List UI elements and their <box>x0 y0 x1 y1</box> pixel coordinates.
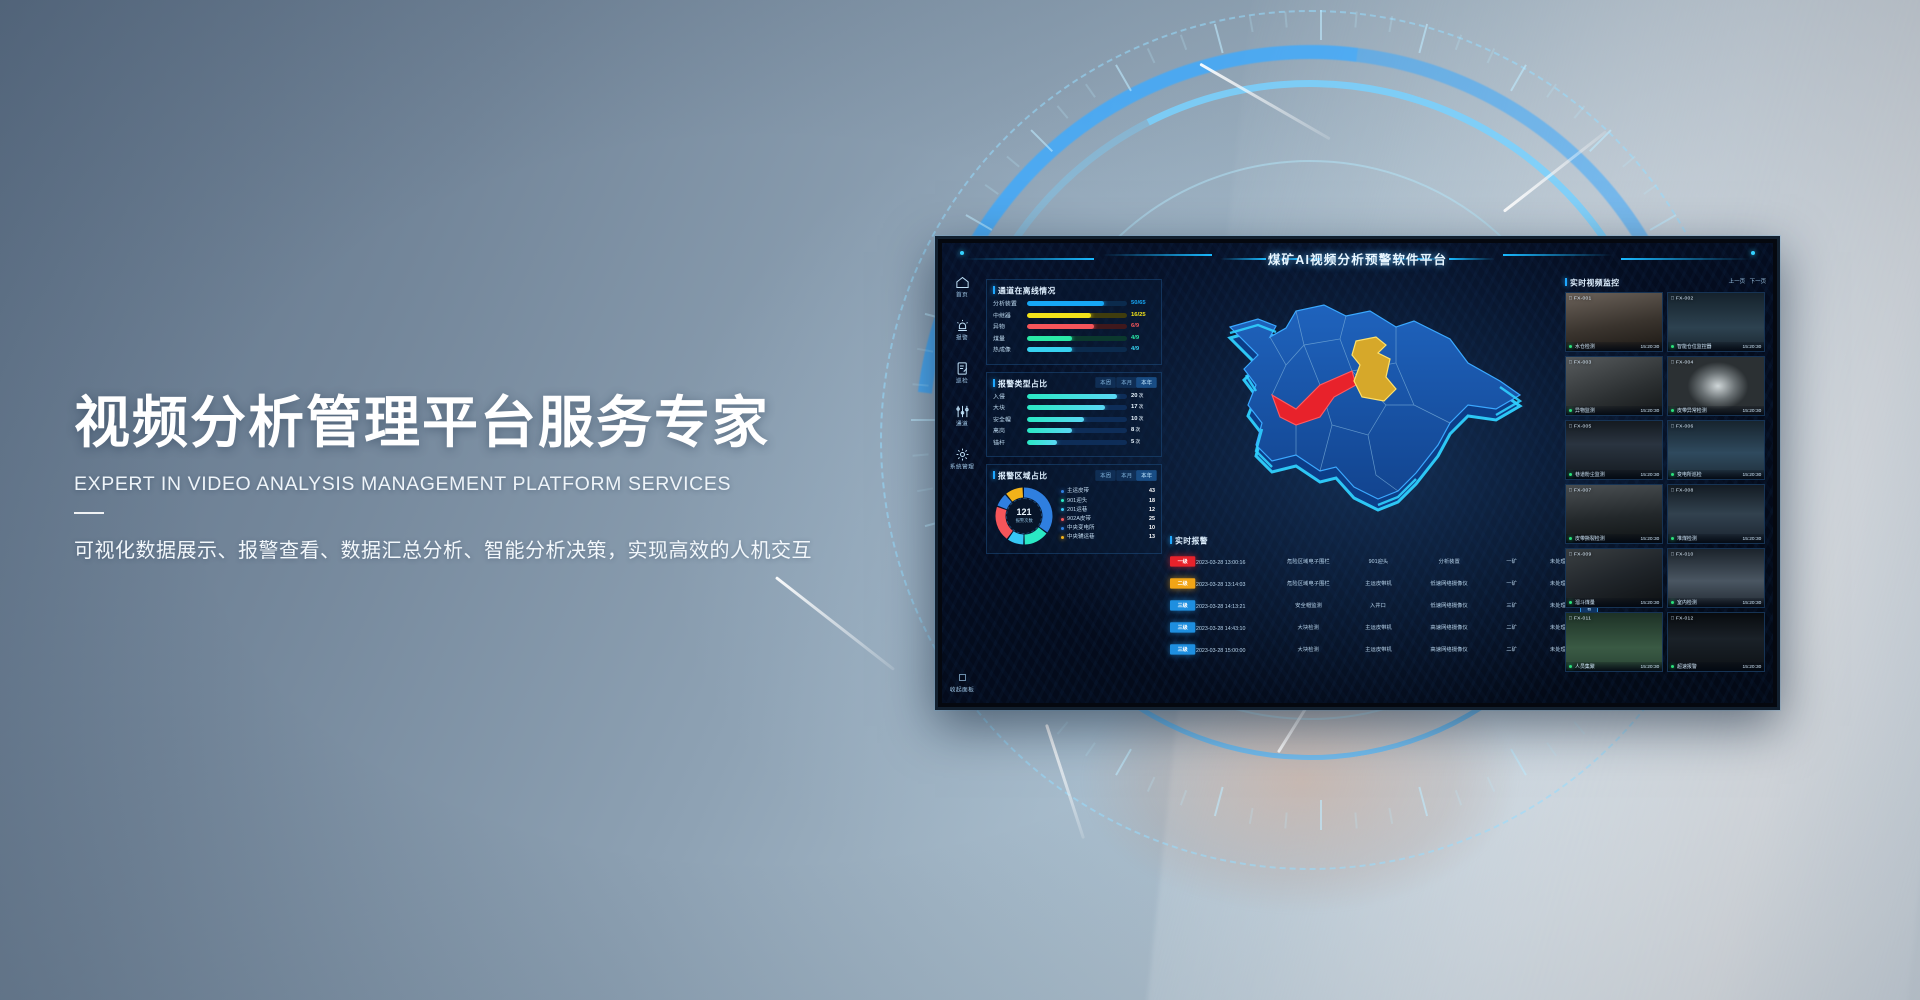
alarm-type-label: 离岗 <box>993 426 1030 435</box>
video-timestamp: 15:20:30 <box>1640 408 1659 414</box>
panel-tab-本周[interactable]: 本周 <box>1096 470 1117 481</box>
alarm-mine-cell: 一矿 <box>1488 581 1536 587</box>
dashboard-screen: 煤矿AI视频分析预警软件平台 首页 报警 巡检 通道 系统管理 <box>942 243 1773 703</box>
channel-bar-row: 分析装置50/65 <box>993 300 1155 307</box>
donut-legend-row: 901迎头18 <box>1061 498 1155 504</box>
video-online-dot <box>1671 345 1674 348</box>
legend-color-dot <box>1061 518 1064 521</box>
alarm-type-row: 安全帽10 次 <box>993 416 1155 423</box>
video-online-dot <box>1671 665 1674 668</box>
video-camera-id: □ FX-002 <box>1671 295 1693 301</box>
video-timestamp: 15:20:30 <box>1742 408 1761 414</box>
video-camera-id: □ FX-007 <box>1569 487 1591 493</box>
video-caption-bar: 异物监测15:20:30 <box>1566 406 1662 415</box>
channel-bar-fill <box>1027 336 1072 341</box>
hero-divider <box>74 512 104 514</box>
channel-bar-track <box>1027 347 1127 352</box>
video-caption-bar: 皮带撕裂检测15:20:30 <box>1566 534 1662 543</box>
video-timestamp: 15:20:30 <box>1742 664 1761 670</box>
alarm-area-panel: 报警区域占比 本周本月本年 121 报警次数 主运皮带43901迎头18201运… <box>986 464 1162 554</box>
alarm-level-cell: 三级 <box>1170 623 1196 632</box>
area-panel-header: 报警区域占比 本周本月本年 <box>993 470 1155 480</box>
alarm-time-cell: 2023-03-28 13:00:16 <box>1196 559 1282 565</box>
channel-panel-header: 通道在离线情况 <box>993 285 1155 295</box>
sidebar-label-alarm: 报警 <box>942 334 987 342</box>
donut-segment-5[interactable] <box>1009 493 1022 498</box>
channel-bar-fill <box>1027 324 1094 329</box>
video-cell[interactable]: □ FX-012超速报警15:20:30 <box>1667 612 1765 672</box>
legend-color-dot <box>1061 490 1064 493</box>
alarm-type-unit: 次 <box>1134 427 1140 432</box>
alarm-table-row[interactable]: 三级2023-03-28 15:00:00大块检测主运皮带机高速网络摄像仪二矿未… <box>1170 639 1559 661</box>
channel-bar-fill <box>1027 301 1104 306</box>
video-cell[interactable]: □ FX-011人员集聚15:20:30 <box>1565 612 1663 672</box>
collapse-icon <box>958 673 967 682</box>
video-online-dot <box>1671 409 1674 412</box>
channel-bar-value: 4/9 <box>1131 335 1160 341</box>
alarm-type-label: 大块 <box>993 403 1030 412</box>
channel-bar-fill <box>1027 313 1091 318</box>
video-timestamp: 15:20:30 <box>1742 344 1761 350</box>
alarm-level-cell: 一级 <box>1170 557 1196 566</box>
channel-bar-track <box>1027 336 1127 341</box>
sidebar-collapse-button[interactable]: 收起面板 <box>942 669 982 693</box>
video-caption-bar: 溜斗煤量15:20:30 <box>1566 598 1662 607</box>
video-timestamp: 15:20:30 <box>1640 344 1659 350</box>
sidebar-item-settings[interactable]: 系统管理 <box>942 447 982 470</box>
sidebar-label-home: 首页 <box>942 291 987 299</box>
panel-accent-bar <box>1170 536 1172 544</box>
alarm-type-value: 5 次 <box>1131 439 1160 445</box>
channel-bar-label: 异物 <box>993 322 1030 331</box>
alarm-mine-cell: 二矿 <box>1488 647 1536 653</box>
video-caption-bar: 人员集聚15:20:30 <box>1566 662 1662 671</box>
sidebar-item-alarm[interactable]: 报警 <box>942 318 982 341</box>
video-cell[interactable]: □ FX-007皮带撕裂检测15:20:30 <box>1565 484 1663 544</box>
dashboard-title: 煤矿AI视频分析预警软件平台 <box>942 249 1773 268</box>
alarm-type-track <box>1027 417 1127 422</box>
video-timestamp: 15:20:30 <box>1640 664 1659 670</box>
alarm-time-cell: 2023-03-28 15:00:00 <box>1196 647 1282 653</box>
video-timestamp: 15:20:30 <box>1742 600 1761 606</box>
donut-total-value: 121 <box>1016 508 1031 517</box>
alarm-type-track <box>1027 405 1127 410</box>
donut-legend-row: 中央辅运巷13 <box>1061 534 1155 540</box>
video-online-dot <box>1569 473 1572 476</box>
video-camera-id: □ FX-004 <box>1671 359 1693 365</box>
video-online-dot <box>1671 473 1674 476</box>
video-caption-bar: 变电所巡检15:20:30 <box>1668 470 1764 479</box>
alarm-type-value: 17 次 <box>1131 404 1160 410</box>
alarm-type-label: 安全帽 <box>993 415 1030 424</box>
sidebar-item-channel[interactable]: 通道 <box>942 404 982 427</box>
video-panel-header: 实时视频监控 上一页 下一页 <box>1565 277 1765 287</box>
video-next-page-button[interactable]: 下一页 <box>1750 278 1767 285</box>
alarm-type-row: 锚杆5 次 <box>993 439 1155 446</box>
alarm-type-fill <box>1027 405 1105 410</box>
alarm-type-row: 大块17 次 <box>993 404 1155 411</box>
channel-icon <box>955 404 970 419</box>
video-caption-bar: 室内检测15:20:30 <box>1668 598 1764 607</box>
channel-bar-value: 50/65 <box>1131 300 1160 306</box>
channel-bar-label: 煤量 <box>993 334 1030 343</box>
alarm-type-track <box>1027 440 1127 445</box>
alarm-type-value: 20 次 <box>1131 393 1160 399</box>
left-panel-column: 通道在离线情况 分析装置50/65中继器16/25异物6/9煤量4/9热成像4/… <box>986 279 1162 693</box>
alarm-mine-cell: 二矿 <box>1488 625 1536 631</box>
alarm-type-unit: 次 <box>1138 404 1144 409</box>
hero-description: 可视化数据展示、报警查看、数据汇总分析、智能分析决策，实现高效的人机交互 <box>74 534 954 563</box>
hero-text-block: 视频分析管理平台服务专家 EXPERT IN VIDEO ANALYSIS MA… <box>74 392 954 563</box>
dashboard-header: 煤矿AI视频分析预警软件平台 <box>942 243 1773 273</box>
alarm-time-cell: 2023-03-28 14:13:21 <box>1196 603 1282 609</box>
alarm-type-track <box>1027 428 1127 433</box>
video-cell[interactable]: □ FX-002智能仓位监控器15:20:30 <box>1667 292 1765 352</box>
sidebar-label-channel: 通道 <box>942 420 987 428</box>
channel-bar-label: 中继器 <box>993 311 1030 320</box>
alarm-type-bar-list: 入侵20 次大块17 次安全帽10 次离岗8 次锚杆5 次 <box>993 393 1155 446</box>
alarm-device-cell: 低速网络摄像仪 <box>1410 603 1488 609</box>
legend-label: 主运皮带 <box>1067 488 1153 495</box>
panel-accent-bar <box>993 286 995 294</box>
video-caption-bar: 水仓检测15:20:30 <box>1566 342 1662 351</box>
legend-label: 901迎头 <box>1067 497 1153 504</box>
video-prev-page-button[interactable]: 上一页 <box>1729 278 1746 285</box>
channel-panel-title: 通道在离线情况 <box>998 284 1056 296</box>
alarm-type-fill <box>1027 428 1072 433</box>
video-pagination: 上一页 下一页 <box>1730 279 1765 285</box>
video-camera-id: □ FX-008 <box>1671 487 1693 493</box>
video-camera-id: □ FX-006 <box>1671 423 1693 429</box>
legend-label: 902A皮带 <box>1067 515 1153 522</box>
alarm-table-row[interactable]: 二级2023-03-28 13:14:03危险区域电子围栏主运皮带机低速网络摄像… <box>1170 573 1559 595</box>
channel-bar-row: 热成像4/9 <box>993 346 1155 353</box>
video-cell[interactable]: □ FX-004皮带异常检测15:20:30 <box>1667 356 1765 416</box>
video-online-dot <box>1569 409 1572 412</box>
video-timestamp: 15:20:30 <box>1742 536 1761 542</box>
video-caption-bar: 智能仓位监控器15:20:30 <box>1668 342 1764 351</box>
video-camera-id: □ FX-012 <box>1671 615 1693 621</box>
home-icon <box>955 275 970 290</box>
alarm-device-cell: 低速网络摄像仪 <box>1410 581 1488 587</box>
legend-color-dot <box>1061 499 1064 502</box>
alarm-icon <box>955 318 970 333</box>
panel-accent-bar <box>1565 278 1567 286</box>
channel-bar-label: 分析装置 <box>993 299 1030 308</box>
area-panel-title: 报警区域占比 <box>998 469 1048 481</box>
legend-label: 中央辅运巷 <box>1067 534 1153 541</box>
sidebar-collapse-label: 收起面板 <box>942 686 987 694</box>
alarm-type-unit: 次 <box>1138 393 1144 398</box>
alarm-type-fill <box>1027 440 1057 445</box>
donut-legend-row: 902A皮带25 <box>1061 516 1155 522</box>
video-camera-id: □ FX-011 <box>1569 615 1591 621</box>
channel-bar-list: 分析装置50/65中继器16/25异物6/9煤量4/9热成像4/9 <box>993 300 1155 353</box>
video-timestamp: 15:20:30 <box>1640 472 1659 478</box>
video-cell[interactable]: □ FX-006变电所巡检15:20:30 <box>1667 420 1765 480</box>
channel-bar-track <box>1027 313 1127 318</box>
alarm-table-row[interactable]: 三级2023-03-28 14:13:21安全帽监测入井口低速网络摄像仪三矿未处… <box>1170 595 1559 617</box>
alarm-level-badge: 三级 <box>1170 623 1195 634</box>
video-caption-bar: 皮带异常检测15:20:30 <box>1668 406 1764 415</box>
alarm-panel-header: 实时报警 <box>1170 535 1559 545</box>
video-camera-id: □ FX-010 <box>1671 551 1693 557</box>
channel-bar-track <box>1027 301 1127 306</box>
donut-segment-2[interactable] <box>1011 535 1024 539</box>
type-panel-title: 报警类型占比 <box>998 377 1048 389</box>
panel-accent-bar <box>993 379 995 387</box>
alarm-type-label: 入侵 <box>993 392 1030 401</box>
province-map-svg <box>1200 285 1530 525</box>
alarm-type-panel: 报警类型占比 本周本月本年 入侵20 次大块17 次安全帽10 次离岗8 次锚杆… <box>986 372 1162 458</box>
video-cell[interactable]: □ FX-008堆煤检测15:20:30 <box>1667 484 1765 544</box>
donut-center: 121 报警次数 <box>1006 498 1042 534</box>
video-online-dot <box>1569 537 1572 540</box>
video-timestamp: 15:20:30 <box>1742 472 1761 478</box>
alarm-level-cell: 三级 <box>1170 601 1196 610</box>
panel-tab-本周[interactable]: 本周 <box>1096 377 1117 388</box>
alarm-device-cell: 高速网络摄像仪 <box>1410 647 1488 653</box>
video-online-dot <box>1569 345 1572 348</box>
alarm-area-cell: 主运皮带机 <box>1346 625 1410 631</box>
settings-gear-icon <box>955 447 970 462</box>
legend-label: 201运巷 <box>1067 506 1153 513</box>
video-cell[interactable]: □ FX-009溜斗煤量15:20:30 <box>1565 548 1663 608</box>
alarm-level-badge: 一级 <box>1170 557 1195 568</box>
alarm-time-cell: 2023-03-28 13:14:03 <box>1196 581 1282 587</box>
alarm-type-label: 锚杆 <box>993 438 1030 447</box>
alarm-device-cell: 分析装置 <box>1410 559 1488 565</box>
donut-legend: 主运皮带43901迎头18201运巷12902A皮带25中央变电所10中央辅运巷… <box>1055 488 1155 543</box>
donut-legend-row: 主运皮带43 <box>1061 488 1155 494</box>
type-panel-header: 报警类型占比 本周本月本年 <box>993 378 1155 388</box>
channel-bar-fill <box>1027 347 1072 352</box>
video-online-dot <box>1671 601 1674 604</box>
video-cell[interactable]: □ FX-003异物监测15:20:30 <box>1565 356 1663 416</box>
video-caption-bar: 巷道粉尘监测15:20:30 <box>1566 470 1662 479</box>
channel-bar-value: 16/25 <box>1131 312 1160 318</box>
video-timestamp: 15:20:30 <box>1640 600 1659 606</box>
channel-status-panel: 通道在离线情况 分析装置50/65中继器16/25异物6/9煤量4/9热成像4/… <box>986 279 1162 365</box>
video-camera-id: □ FX-001 <box>1569 295 1591 301</box>
panel-tab-本月[interactable]: 本月 <box>1116 470 1137 481</box>
alarm-area-cell: 901迎头 <box>1346 559 1410 565</box>
alarm-type-unit: 次 <box>1134 439 1140 444</box>
video-panel-title: 实时视频监控 <box>1570 276 1620 288</box>
panel-tab-本年[interactable]: 本年 <box>1136 470 1157 481</box>
channel-bar-row: 煤量4/9 <box>993 335 1155 342</box>
live-video-panel: 实时视频监控 上一页 下一页 □ FX-001水仓检测15:20:30□ FX-… <box>1565 277 1765 695</box>
legend-label: 中央变电所 <box>1067 525 1153 532</box>
donut-total-caption: 报警次数 <box>1015 519 1032 525</box>
video-caption-bar: 堆煤检测15:20:30 <box>1668 534 1764 543</box>
video-online-dot <box>1569 665 1572 668</box>
channel-bar-track <box>1027 324 1127 329</box>
hero-title: 视频分析管理平台服务专家 <box>74 392 954 455</box>
panel-tab-本月[interactable]: 本月 <box>1116 377 1137 388</box>
sidebar-item-inspection[interactable]: 巡检 <box>942 361 982 384</box>
alarm-area-cell: 主运皮带机 <box>1346 647 1410 653</box>
donut-legend-row: 201运巷12 <box>1061 507 1155 513</box>
sidebar-item-home[interactable]: 首页 <box>942 275 982 298</box>
alarm-type-row: 入侵20 次 <box>993 393 1155 400</box>
alarm-level-badge: 三级 <box>1170 601 1195 612</box>
video-camera-id: □ FX-003 <box>1569 359 1591 365</box>
video-camera-id: □ FX-005 <box>1569 423 1591 429</box>
legend-color-dot <box>1061 527 1064 530</box>
donut-legend-row: 中央变电所10 <box>1061 525 1155 531</box>
channel-bar-row: 异物6/9 <box>993 323 1155 330</box>
channel-bar-value: 4/9 <box>1131 346 1160 352</box>
alarm-panel-title: 实时报警 <box>1175 534 1208 546</box>
video-online-dot <box>1569 601 1572 604</box>
alarm-table-body: 一级2023-03-28 13:00:16危险区域电子围栏901迎头分析装置一矿… <box>1170 551 1559 661</box>
video-cell-grid: □ FX-001水仓检测15:20:30□ FX-002智能仓位监控器15:20… <box>1565 292 1765 672</box>
legend-color-dot <box>1061 536 1064 539</box>
area-panel-tabs[interactable]: 本周本月本年 <box>1097 471 1155 480</box>
alarm-type-value: 10 次 <box>1131 416 1160 422</box>
channel-bar-value: 6/9 <box>1131 323 1160 329</box>
alarm-area-cell: 主运皮带机 <box>1346 581 1410 587</box>
type-panel-tabs[interactable]: 本周本月本年 <box>1097 378 1155 387</box>
alarm-device-cell: 高速网络摄像仪 <box>1410 625 1488 631</box>
alarm-time-cell: 2023-03-28 14:43:10 <box>1196 625 1282 631</box>
video-timestamp: 15:20:30 <box>1640 536 1659 542</box>
alarm-level-cell: 三级 <box>1170 645 1196 654</box>
alarm-level-badge: 三级 <box>1170 645 1195 656</box>
dashboard-sidebar: 首页 报警 巡检 通道 系统管理 收起面板 <box>942 269 982 703</box>
province-map-region[interactable] <box>1170 277 1559 533</box>
monitor-bezel: 煤矿AI视频分析预警软件平台 首页 报警 巡检 通道 系统管理 <box>935 236 1780 710</box>
alarm-type-track <box>1027 394 1127 399</box>
hero-subtitle: EXPERT IN VIDEO ANALYSIS MANAGEMENT PLAT… <box>74 473 954 496</box>
panel-tab-本年[interactable]: 本年 <box>1136 377 1157 388</box>
alarm-type-fill <box>1027 394 1117 399</box>
legend-color-dot <box>1061 508 1064 511</box>
alarm-type-fill <box>1027 417 1084 422</box>
alarm-area-cell: 入井口 <box>1346 603 1410 609</box>
channel-bar-row: 中继器16/25 <box>993 312 1155 319</box>
panel-accent-bar <box>993 471 995 479</box>
sidebar-label-inspection: 巡检 <box>942 377 987 385</box>
alarm-level-cell: 二级 <box>1170 579 1196 588</box>
alarm-type-unit: 次 <box>1138 416 1144 421</box>
alarm-mine-cell: 一矿 <box>1488 559 1536 565</box>
sidebar-label-settings: 系统管理 <box>942 463 987 471</box>
donut-chart-section: 121 报警次数 主运皮带43901迎头18201运巷12902A皮带25中央变… <box>993 485 1155 547</box>
inspection-icon <box>955 361 970 376</box>
video-online-dot <box>1671 537 1674 540</box>
donut-chart[interactable]: 121 报警次数 <box>993 485 1055 547</box>
alarm-mine-cell: 三矿 <box>1488 603 1536 609</box>
realtime-alarm-panel: 实时报警 一级2023-03-28 13:00:16危险区域电子围栏901迎头分… <box>1170 535 1559 695</box>
video-caption-bar: 超速报警15:20:30 <box>1668 662 1764 671</box>
video-camera-id: □ FX-009 <box>1569 551 1591 557</box>
alarm-table-row[interactable]: 一级2023-03-28 13:00:16危险区域电子围栏901迎头分析装置一矿… <box>1170 551 1559 573</box>
video-cell[interactable]: □ FX-005巷道粉尘监测15:20:30 <box>1565 420 1663 480</box>
video-cell[interactable]: □ FX-010室内检测15:20:30 <box>1667 548 1765 608</box>
alarm-level-badge: 二级 <box>1170 579 1195 590</box>
alarm-type-value: 8 次 <box>1131 427 1160 433</box>
alarm-table-row[interactable]: 三级2023-03-28 14:43:10大块检测主运皮带机高速网络摄像仪二矿未… <box>1170 617 1559 639</box>
video-cell[interactable]: □ FX-001水仓检测15:20:30 <box>1565 292 1663 352</box>
channel-bar-label: 热成像 <box>993 345 1030 354</box>
alarm-type-row: 离岗8 次 <box>993 427 1155 434</box>
